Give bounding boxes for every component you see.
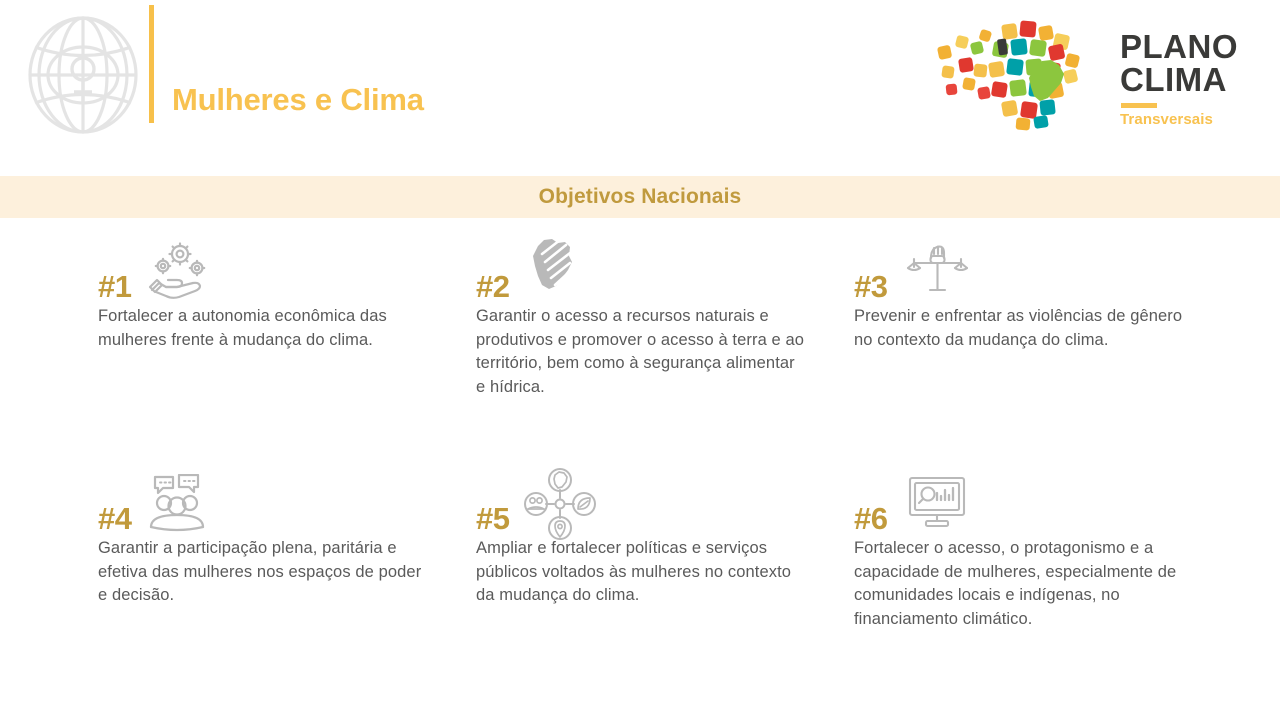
objective-text: Prevenir e enfrentar as violências de gê… xyxy=(854,302,1184,352)
objective-number: #6 xyxy=(854,503,887,534)
objective-header: #1 xyxy=(98,240,428,302)
objectives-row: #4 xyxy=(0,472,1280,704)
objectives-row: #1 xyxy=(0,240,1280,472)
hand-holding-gears-icon xyxy=(146,242,208,300)
globe-female-symbol-icon xyxy=(22,14,144,136)
objective-text: Fortalecer a autonomia econômica das mul… xyxy=(98,302,428,352)
logo-line-clima: CLIMA xyxy=(1120,63,1238,96)
objective-card: #5 xyxy=(476,472,806,608)
objective-number: #2 xyxy=(476,271,509,302)
objective-header: #6 xyxy=(854,472,1184,534)
objective-text: Garantir o acesso a recursos naturais e … xyxy=(476,302,806,399)
logo-subtitle: Transversais xyxy=(1120,111,1238,128)
scales-justice-fist-icon xyxy=(906,242,968,300)
mosaic-globe-brazil-icon xyxy=(930,12,1115,132)
logo-rule xyxy=(1121,103,1157,108)
brazil-map-icon xyxy=(522,236,584,298)
section-banner: Objetivos Nacionais xyxy=(0,176,1280,218)
objectives-grid: #1 xyxy=(0,240,1280,704)
title-accent-bar xyxy=(149,5,154,123)
slide-header: Mulheres e Clima xyxy=(0,0,1280,170)
page-title: Mulheres e Clima xyxy=(172,82,424,118)
objective-number: #5 xyxy=(476,503,509,534)
objective-card: #4 xyxy=(98,472,428,608)
objective-header: #4 xyxy=(98,472,428,534)
people-speech-bubbles-icon xyxy=(146,474,208,532)
objective-header: #2 xyxy=(476,240,806,302)
section-banner-label: Objetivos Nacionais xyxy=(539,185,742,209)
objective-number: #3 xyxy=(854,271,887,302)
objective-number: #4 xyxy=(98,503,131,534)
objective-header: #5 xyxy=(476,472,806,534)
plano-clima-logo: PLANO CLIMA Transversais xyxy=(930,12,1250,134)
objective-text: Fortalecer o acesso, o protagonismo e a … xyxy=(854,534,1184,631)
objective-number: #1 xyxy=(98,271,131,302)
objective-card: #3 xyxy=(854,240,1184,352)
objective-text: Garantir a participação plena, paritária… xyxy=(98,534,428,608)
network-nodes-icon xyxy=(524,468,596,540)
objective-text: Ampliar e fortalecer políticas e serviço… xyxy=(476,534,806,608)
objective-card: #6 xyxy=(854,472,1184,631)
monitor-search-chart-icon xyxy=(906,476,968,528)
logo-line-plano: PLANO xyxy=(1120,30,1238,63)
objective-header: #3 xyxy=(854,240,1184,302)
objective-card: #1 xyxy=(98,240,428,352)
objective-card: #2 Garantir o acesso a recursos n xyxy=(476,240,806,399)
